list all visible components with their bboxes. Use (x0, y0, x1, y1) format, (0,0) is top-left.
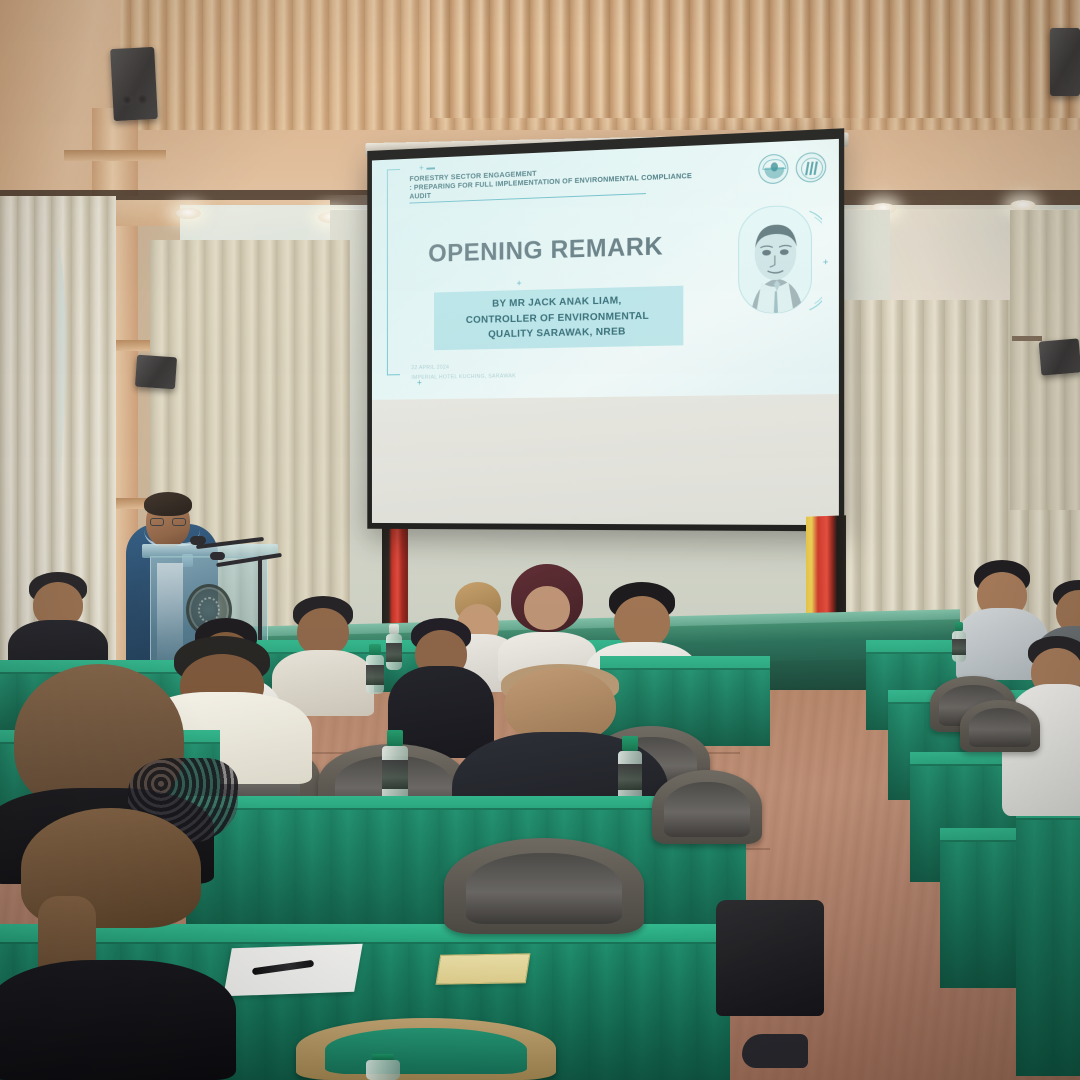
slide-logo-group (758, 152, 826, 185)
shoe (742, 1034, 808, 1068)
note-paper[interactable] (223, 944, 362, 997)
wall-speaker-right (1039, 338, 1080, 375)
wall-speaker-left (135, 355, 177, 390)
forestry-department-logo (758, 153, 788, 184)
chair-foreground[interactable] (296, 1018, 556, 1080)
conference-hall-photo: + + + + FORESTRY SECTOR ENGAGEMENT : PRE… (0, 0, 1080, 1080)
chair[interactable] (960, 700, 1040, 752)
slide-speaker-credit: BY MR JACK ANAK LIAM, CONTROLLER OF ENVI… (434, 286, 683, 350)
table-row (1016, 806, 1080, 1076)
projector-screen: + + + + FORESTRY SECTOR ENGAGEMENT : PRE… (367, 128, 844, 531)
attendee-front-left-woman-ponytail (0, 808, 236, 1080)
slide-header: FORESTRY SECTOR ENGAGEMENT : PREPARING F… (409, 161, 716, 204)
slide-corner-bracket (387, 169, 400, 376)
chair[interactable] (444, 838, 644, 934)
projector-screen-surface: + + + + FORESTRY SECTOR ENGAGEMENT : PRE… (372, 139, 839, 525)
microphone-head-1 (190, 536, 206, 545)
presenter-head (146, 497, 190, 547)
water-bottle (952, 622, 966, 662)
water-bottle (366, 644, 384, 694)
microphone-head-2 (210, 552, 225, 560)
slide-portrait-illustration (732, 201, 822, 325)
chair[interactable] (652, 770, 762, 844)
slide-footer-line: IMPERIAL HOTEL KUCHING, SARAWAK (411, 372, 516, 383)
water-bottle (618, 736, 642, 802)
slide-footer: 22 APRIL 2024 IMPERIAL HOTEL KUCHING, SA… (411, 363, 516, 384)
water-bottle (366, 1054, 400, 1080)
water-bottle (386, 624, 402, 670)
cream-card[interactable] (435, 953, 530, 985)
speaker-mount-bracket-right (1012, 336, 1042, 341)
eyeglasses-icon (150, 518, 186, 526)
wall-speaker-top-left (110, 47, 158, 121)
backpack (716, 900, 824, 1016)
presentation-slide: + + + + FORESTRY SECTOR ENGAGEMENT : PRE… (372, 139, 839, 400)
wood-slat-wall-panel-upper-right (430, 0, 1080, 118)
water-bottle (382, 730, 408, 802)
nreb-sarawak-logo (796, 152, 826, 183)
wall-speaker-top-right (1050, 28, 1080, 96)
ceiling-downlight (175, 208, 201, 219)
slide-title: OPENING REMARK (372, 230, 724, 270)
